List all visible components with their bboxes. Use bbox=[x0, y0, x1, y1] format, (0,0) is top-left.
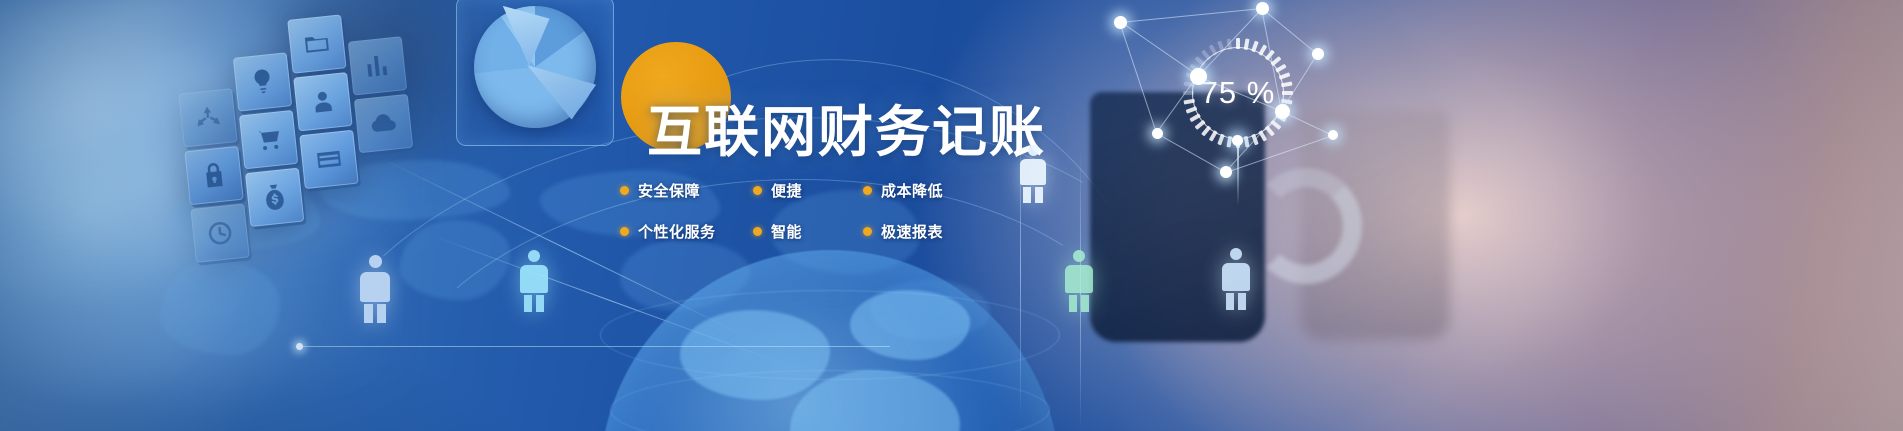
feature-label: 成本降低 bbox=[881, 180, 943, 201]
bullet-dot-icon bbox=[620, 186, 629, 195]
feature-item-cost-reduction: 成本降低 bbox=[863, 180, 943, 201]
network-node bbox=[1256, 2, 1269, 15]
feature-label: 智能 bbox=[771, 221, 802, 242]
network-node bbox=[1152, 128, 1163, 139]
lock-icon bbox=[184, 146, 243, 205]
icon-cube-cluster bbox=[157, 0, 430, 250]
bullet-dot-icon bbox=[753, 186, 762, 195]
feature-item-convenient: 便捷 bbox=[753, 180, 863, 201]
network-node bbox=[1328, 130, 1338, 140]
person-pictogram bbox=[1222, 248, 1250, 310]
clock-icon bbox=[190, 204, 249, 263]
feature-item-intelligent: 智能 bbox=[753, 221, 863, 242]
network-node bbox=[1220, 166, 1232, 178]
feature-item-security: 安全保障 bbox=[620, 180, 753, 201]
lightbulb-icon bbox=[233, 52, 292, 111]
divider-line bbox=[300, 346, 890, 347]
network-node bbox=[1190, 68, 1207, 85]
folder-icon bbox=[287, 14, 346, 73]
network-edge bbox=[1157, 133, 1226, 173]
feature-label: 极速报表 bbox=[881, 221, 943, 242]
network-edge bbox=[1120, 8, 1262, 23]
network-node bbox=[1114, 16, 1127, 29]
person-pictogram bbox=[360, 255, 390, 323]
person-pictogram bbox=[1020, 145, 1046, 203]
cloud-icon bbox=[354, 94, 413, 153]
divider-dot-icon bbox=[296, 343, 303, 350]
bullet-dot-icon bbox=[620, 227, 629, 236]
network-node bbox=[1312, 48, 1324, 60]
feature-row: 安全保障 便捷 成本降低 bbox=[620, 180, 980, 201]
network-edge bbox=[1198, 76, 1282, 112]
network-edge bbox=[1281, 53, 1318, 111]
bar-chart-icon bbox=[348, 36, 407, 95]
feature-row: 个性化服务 智能 极速报表 bbox=[620, 221, 980, 242]
recycle-icon bbox=[178, 88, 237, 147]
feature-list: 安全保障 便捷 成本降低 个性化服务 智能 极速报表 bbox=[620, 180, 980, 262]
page-title: 互联网财务记账 bbox=[647, 103, 1046, 161]
bullet-dot-icon bbox=[863, 186, 872, 195]
person-pictogram bbox=[1065, 250, 1093, 312]
money-bag-icon bbox=[245, 168, 304, 227]
feature-item-personalized-service: 个性化服务 bbox=[620, 221, 753, 242]
feature-label: 个性化服务 bbox=[638, 221, 716, 242]
node-network-graphic bbox=[1060, 0, 1390, 280]
network-edge bbox=[1282, 111, 1333, 136]
network-edge bbox=[1119, 22, 1157, 133]
feature-label: 便捷 bbox=[771, 180, 802, 201]
feature-item-fast-reports: 极速报表 bbox=[863, 221, 943, 242]
shopping-cart-icon bbox=[239, 110, 298, 169]
network-edge bbox=[1156, 75, 1198, 133]
network-edge bbox=[1198, 8, 1263, 77]
person-pictogram bbox=[520, 250, 548, 312]
credit-card-icon bbox=[299, 130, 358, 189]
bullet-dot-icon bbox=[863, 227, 872, 236]
feature-label: 安全保障 bbox=[638, 180, 700, 201]
marketing-banner: 互联网财务记账 安全保障 便捷 成本降低 个性化服务 智能 bbox=[0, 0, 1903, 431]
bullet-dot-icon bbox=[753, 227, 762, 236]
network-node bbox=[1275, 104, 1290, 119]
person-icon bbox=[293, 72, 352, 131]
network-edge bbox=[1120, 21, 1199, 76]
